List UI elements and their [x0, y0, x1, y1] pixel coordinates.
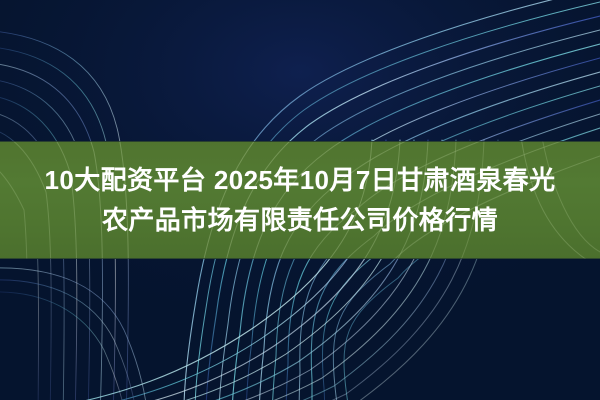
- headline: 10大配资平台 2025年10月7日甘肃酒泉春光 农产品市场有限责任公司价格行情: [0, 141, 600, 259]
- headline-line-1: 10大配资平台 2025年10月7日甘肃酒泉春光: [45, 162, 556, 198]
- headline-line-2: 农产品市场有限责任公司价格行情: [102, 202, 498, 238]
- title-band: 10大配资平台 2025年10月7日甘肃酒泉春光 农产品市场有限责任公司价格行情: [0, 141, 600, 259]
- banner-image: 10大配资平台 2025年10月7日甘肃酒泉春光 农产品市场有限责任公司价格行情: [0, 0, 600, 400]
